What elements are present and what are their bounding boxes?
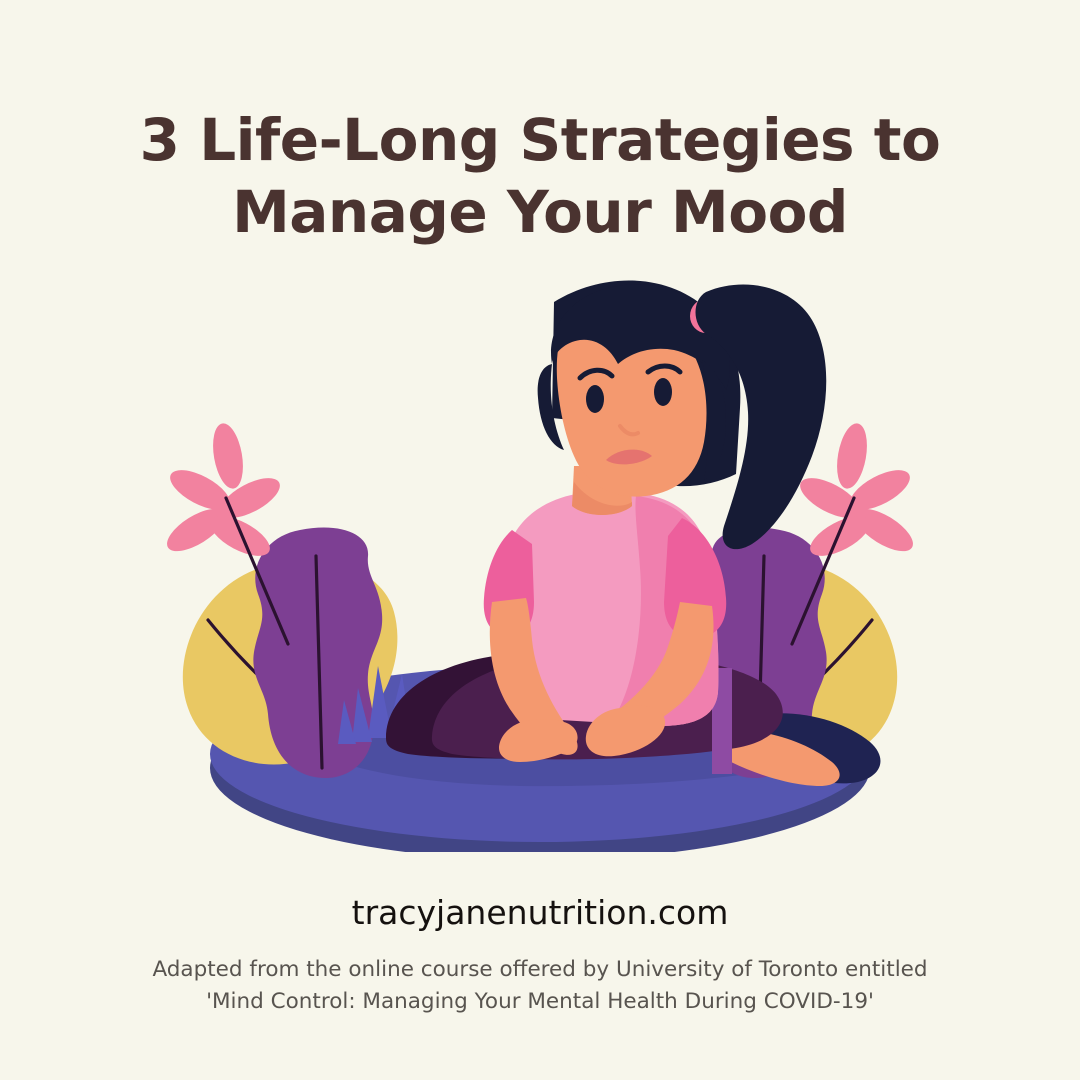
title-line-1: 3 Life-Long Strategies to: [0, 104, 1080, 176]
title-line-2: Manage Your Mood: [0, 176, 1080, 248]
sad-woman-illustration: [140, 268, 940, 852]
site-url[interactable]: tracyjanenutrition.com: [0, 892, 1080, 934]
poster-canvas: 3 Life-Long Strategies to Manage Your Mo…: [0, 0, 1080, 1080]
left-pink-flower: [161, 421, 286, 564]
eye-right: [654, 378, 672, 406]
attribution-caption: Adapted from the online course offered b…: [0, 954, 1080, 1018]
footer: tracyjanenutrition.com Adapted from the …: [0, 892, 1080, 1018]
caption-line-2: 'Mind Control: Managing Your Mental Heal…: [0, 986, 1080, 1018]
page-title: 3 Life-Long Strategies to Manage Your Mo…: [0, 104, 1080, 248]
eye-left: [586, 385, 604, 413]
caption-line-1: Adapted from the online course offered b…: [0, 954, 1080, 986]
